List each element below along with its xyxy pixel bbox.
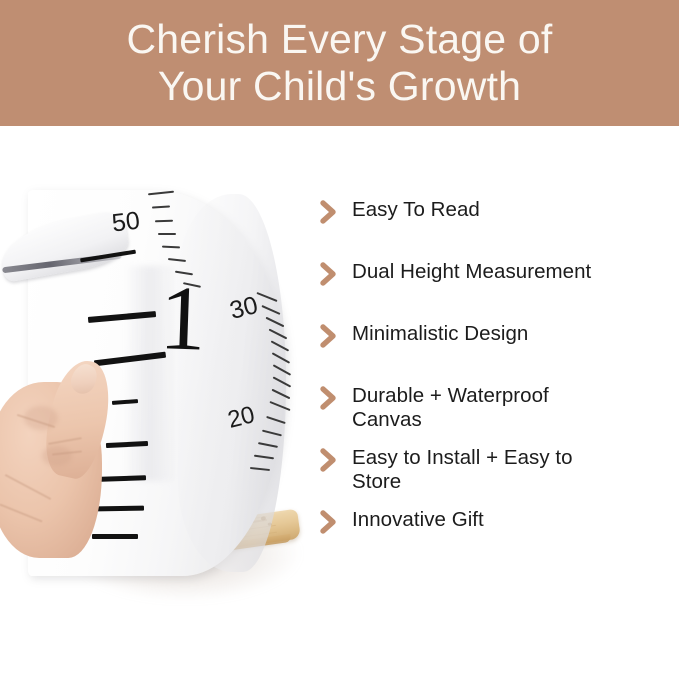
feature-label: Easy to Install + Easy to Store bbox=[352, 446, 573, 494]
knuckle bbox=[42, 446, 72, 466]
feature-item-easy-to-install-store: Easy to Install + Easy to Store bbox=[318, 446, 573, 494]
feature-item-minimalistic-design: Minimalistic Design bbox=[318, 322, 528, 349]
feature-item-durable-waterproof-canvas: Durable + Waterproof Canvas bbox=[318, 384, 549, 432]
chevron-right-icon bbox=[318, 447, 340, 473]
feature-label: Easy To Read bbox=[352, 198, 480, 222]
feature-label: Durable + Waterproof Canvas bbox=[352, 384, 549, 432]
chevron-right-icon bbox=[318, 385, 340, 411]
ruler-number-50: 50 bbox=[110, 206, 141, 238]
feature-item-innovative-gift: Innovative Gift bbox=[318, 508, 484, 535]
ruler-tick-fine bbox=[158, 233, 176, 235]
chevron-right-icon bbox=[318, 199, 340, 225]
page-title: Cherish Every Stage of Your Child's Grow… bbox=[127, 16, 553, 110]
header-banner: Cherish Every Stage of Your Child's Grow… bbox=[0, 0, 679, 126]
chevron-right-icon bbox=[318, 509, 340, 535]
hand-holding-chart bbox=[0, 354, 140, 559]
feature-label: Dual Height Measurement bbox=[352, 260, 591, 284]
feature-label: Minimalistic Design bbox=[352, 322, 528, 346]
feature-label: Innovative Gift bbox=[352, 508, 484, 532]
feature-item-dual-height-measurement: Dual Height Measurement bbox=[318, 260, 591, 287]
chevron-right-icon bbox=[318, 261, 340, 287]
chevron-right-icon bbox=[318, 323, 340, 349]
canvas-curve-shading bbox=[178, 194, 286, 572]
main-content: 50 30 20 1 Easy To Read bbox=[0, 126, 679, 679]
ruler-large-numeral-1: 1 bbox=[158, 271, 207, 365]
feature-item-easy-to-read: Easy To Read bbox=[318, 198, 480, 225]
product-photo: 50 30 20 1 bbox=[0, 176, 310, 626]
